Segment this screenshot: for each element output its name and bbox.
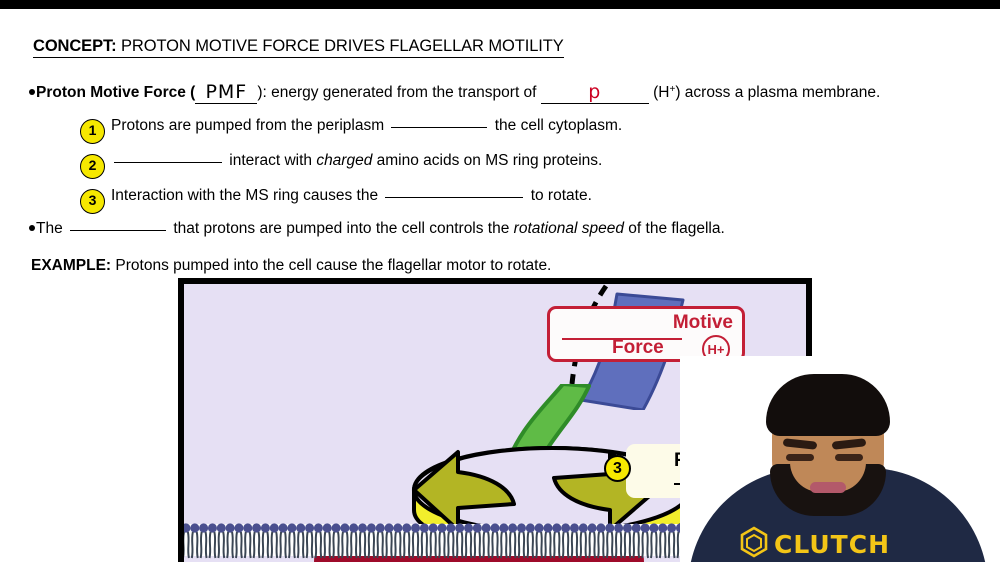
step-2-row: 2 interact with charged amino acids on M… — [80, 152, 602, 179]
presenter-eye-right — [835, 454, 863, 461]
step-1-row: 1Protons are pumped from the periplasm t… — [80, 117, 622, 144]
step-1-text-before: Protons are pumped from the periplasm — [111, 117, 388, 134]
step-2-text-after: amino acids on MS ring proteins. — [372, 152, 602, 169]
example-text: Protons pumped into the cell cause the f… — [111, 257, 551, 274]
step-2-number-badge: 2 — [80, 154, 105, 179]
step-1-blank — [391, 126, 487, 128]
rate-italic: rotational speed — [514, 220, 624, 237]
example-label: EXAMPLE: — [31, 257, 111, 274]
concept-label: CONCEPT: — [33, 37, 117, 55]
presenter-lips — [810, 482, 846, 493]
step-2-text-mid: interact with — [225, 152, 316, 169]
rate-text-before: The — [36, 220, 67, 237]
pmf-tail-start: (H — [649, 84, 670, 101]
step-3-number-badge: 3 — [80, 189, 105, 214]
step-2-italic: charged — [316, 152, 372, 169]
step-3-row: 3Interaction with the MS ring causes the… — [80, 187, 592, 214]
presenter-webcam-overlay: CLUTCH — [680, 356, 1000, 562]
rate-text-after: of the flagella. — [624, 220, 725, 237]
rate-text-mid: that protons are pumped into the cell co… — [169, 220, 514, 237]
pmf-callout-force: Force — [612, 337, 664, 359]
presenter-eye-left — [786, 454, 814, 461]
pmf-callout-motive: Motive — [673, 312, 733, 334]
step-2-blank — [114, 161, 222, 163]
pmf-blank-answer: p — [541, 82, 649, 104]
concept-heading: CONCEPT: PROTON MOTIVE FORCE DRIVES FLAG… — [33, 37, 564, 58]
clutch-hexagon-logo-icon — [740, 526, 768, 558]
pmf-handwritten-answer: PMF — [195, 82, 257, 104]
pmf-tail-end: ) across a plasma membrane. — [675, 84, 880, 101]
pmf-callout-box: Motive Force H+ — [547, 306, 745, 362]
step-3-blank — [385, 196, 523, 198]
bullet-proton-motive-force: Proton Motive Force (PMF): energy genera… — [29, 81, 880, 103]
flagellar-callout-badge: 3 — [604, 455, 631, 482]
concept-title: PROTON MOTIVE FORCE DRIVES FLAGELLAR MOT… — [117, 37, 564, 55]
step-1-text-after: the cell cytoplasm. — [490, 117, 622, 134]
step-3-text-before: Interaction with the MS ring causes the — [111, 187, 382, 204]
example-row: EXAMPLE: Protons pumped into the cell ca… — [31, 257, 551, 274]
rate-blank — [70, 229, 166, 231]
presenter-hair — [766, 374, 890, 436]
step-1-number-badge: 1 — [80, 119, 105, 144]
bullet-dot-icon — [29, 89, 35, 95]
clutch-logo-text: CLUTCH — [774, 530, 890, 559]
step-3-text-after: to rotate. — [526, 187, 591, 204]
pmf-term: Proton Motive Force ( — [36, 84, 195, 101]
lecture-notes-area: CONCEPT: PROTON MOTIVE FORCE DRIVES FLAG… — [0, 9, 1000, 277]
bullet-dot-icon-2 — [29, 225, 35, 231]
top-black-bar — [0, 0, 1000, 9]
bullet-rotational-speed: The that protons are pumped into the cel… — [29, 220, 725, 237]
pmf-after-term: ): energy generated from the transport o… — [257, 84, 540, 101]
